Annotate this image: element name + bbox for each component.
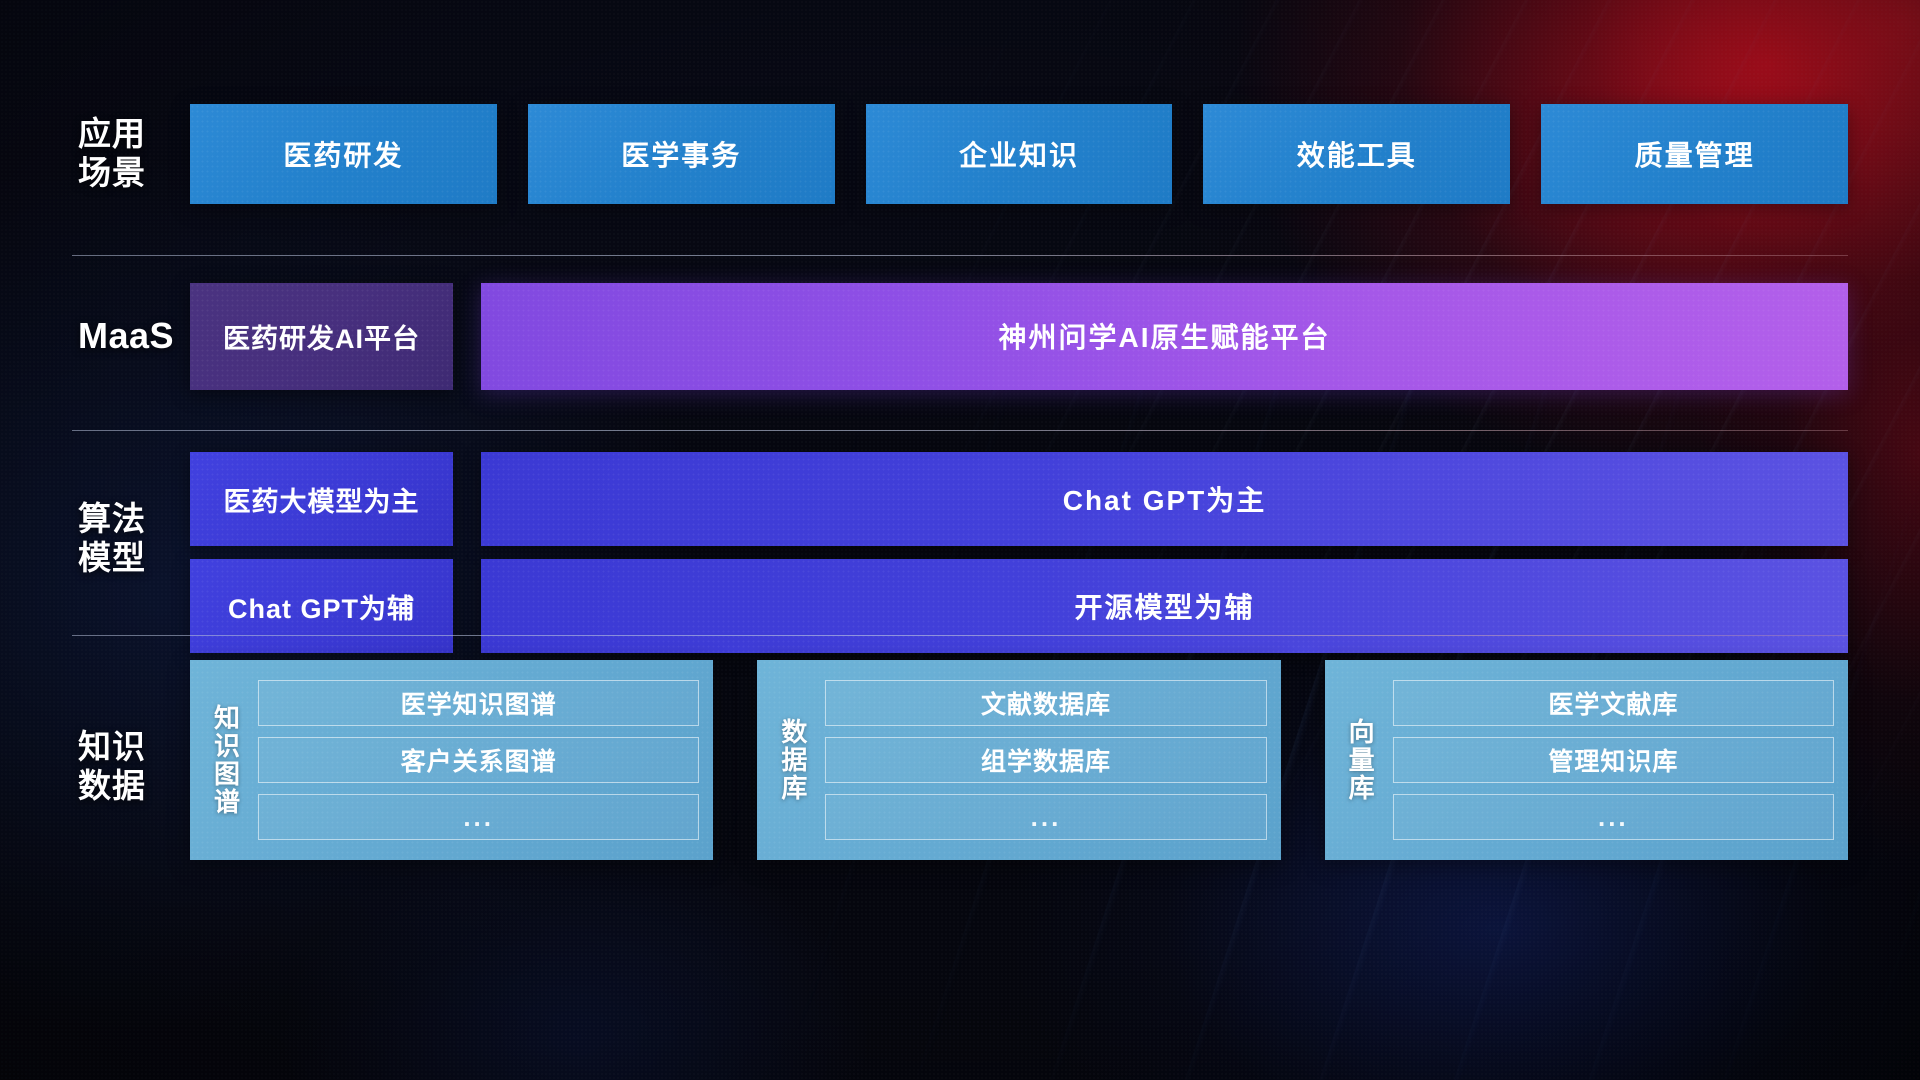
app-card-medical-affairs[interactable]: 医学事务: [528, 104, 835, 204]
tier-label-maas: MaaS: [0, 315, 190, 357]
tier-knowledge-data: 知识 数据 知识图谱 医学知识图谱 客户关系图谱 ... 数据库 文献数据库: [0, 660, 1920, 895]
knowledge-panel-knowledge-graph[interactable]: 知识图谱 医学知识图谱 客户关系图谱 ...: [190, 660, 713, 860]
maas-card-shenzhou-wenxue-platform[interactable]: 神州问学AI原生赋能平台: [481, 283, 1848, 390]
algorithm-model-row-primary: 医药大模型为主 Chat GPT为主: [190, 452, 1848, 546]
algo-card-pharma-large-model-primary[interactable]: 医药大模型为主: [190, 452, 453, 546]
knowledge-panel-database[interactable]: 数据库 文献数据库 组学数据库 ...: [757, 660, 1280, 860]
application-scenario-card-list: 医药研发 医学事务 企业知识 效能工具 质量管理: [190, 104, 1920, 204]
tier-label-application-scenarios: 应用 场景: [0, 115, 190, 193]
divider-tier1-tier2: [72, 255, 1848, 256]
app-card-efficiency-tools[interactable]: 效能工具: [1203, 104, 1510, 204]
knowledge-item[interactable]: 管理知识库: [1393, 737, 1834, 783]
app-card-label: 质量管理: [1635, 134, 1755, 174]
tier-algorithm-models: 算法 模型 医药大模型为主 Chat GPT为主 Chat GPT为辅 开源模型…: [0, 452, 1920, 662]
app-card-quality-management[interactable]: 质量管理: [1541, 104, 1848, 204]
knowledge-item[interactable]: 客户关系图谱: [258, 737, 699, 783]
knowledge-item-list: 医学知识图谱 客户关系图谱 ...: [258, 672, 699, 848]
app-card-label: 医药研发: [283, 134, 403, 174]
knowledge-item-more[interactable]: ...: [258, 794, 699, 840]
knowledge-item[interactable]: 医学知识图谱: [258, 680, 699, 726]
slide-canvas: 应用 场景 医药研发 医学事务 企业知识 效能工具 质量管理: [0, 0, 1920, 1080]
maas-card-label: 医药研发AI平台: [223, 317, 420, 356]
algo-card-opensource-model-secondary[interactable]: 开源模型为辅: [481, 559, 1848, 653]
algorithm-model-grid: 医药大模型为主 Chat GPT为主 Chat GPT为辅 开源模型为辅: [190, 452, 1920, 653]
knowledge-item-list: 文献数据库 组学数据库 ...: [825, 672, 1266, 848]
knowledge-item-more[interactable]: ...: [825, 794, 1266, 840]
algo-card-chatgpt-primary[interactable]: Chat GPT为主: [481, 452, 1848, 546]
knowledge-panel-label: 知识图谱: [196, 672, 258, 848]
divider-tier2-tier3: [72, 430, 1848, 431]
algo-card-label: 开源模型为辅: [1074, 586, 1254, 626]
app-card-label: 效能工具: [1297, 134, 1417, 174]
knowledge-panel-list: 知识图谱 医学知识图谱 客户关系图谱 ... 数据库 文献数据库 组学数据库 .…: [190, 660, 1920, 860]
knowledge-panel-label: 向量库: [1331, 672, 1393, 848]
algo-card-label: Chat GPT为辅: [228, 587, 415, 626]
knowledge-panel-vector-store[interactable]: 向量库 医学文献库 管理知识库 ...: [1325, 660, 1848, 860]
algo-card-label: Chat GPT为主: [1063, 479, 1267, 519]
knowledge-item-more[interactable]: ...: [1393, 794, 1834, 840]
tier-label-algorithm-models: 算法 模型: [0, 452, 190, 578]
maas-card-pharma-ai-platform[interactable]: 医药研发AI平台: [190, 283, 453, 390]
maas-card-list: 医药研发AI平台 神州问学AI原生赋能平台: [190, 283, 1920, 390]
algo-card-label: 医药大模型为主: [224, 480, 420, 519]
divider-tier3-tier4: [72, 635, 1848, 636]
knowledge-item[interactable]: 医学文献库: [1393, 680, 1834, 726]
knowledge-item-list: 医学文献库 管理知识库 ...: [1393, 672, 1834, 848]
knowledge-item[interactable]: 文献数据库: [825, 680, 1266, 726]
algo-card-chatgpt-secondary[interactable]: Chat GPT为辅: [190, 559, 453, 653]
tier-label-knowledge-data: 知识 数据: [0, 660, 190, 806]
tier-application-scenarios: 应用 场景 医药研发 医学事务 企业知识 效能工具 质量管理: [0, 98, 1920, 210]
maas-card-label: 神州问学AI原生赋能平台: [998, 316, 1330, 356]
architecture-diagram: 应用 场景 医药研发 医学事务 企业知识 效能工具 质量管理: [0, 0, 1920, 1080]
tier-maas: MaaS 医药研发AI平台 神州问学AI原生赋能平台: [0, 280, 1920, 392]
knowledge-panel-label: 数据库: [763, 672, 825, 848]
app-card-label: 医学事务: [621, 134, 741, 174]
app-card-medical-rd[interactable]: 医药研发: [190, 104, 497, 204]
knowledge-item[interactable]: 组学数据库: [825, 737, 1266, 783]
app-card-label: 企业知识: [959, 134, 1079, 174]
algorithm-model-row-secondary: Chat GPT为辅 开源模型为辅: [190, 559, 1848, 653]
app-card-enterprise-knowledge[interactable]: 企业知识: [866, 104, 1173, 204]
